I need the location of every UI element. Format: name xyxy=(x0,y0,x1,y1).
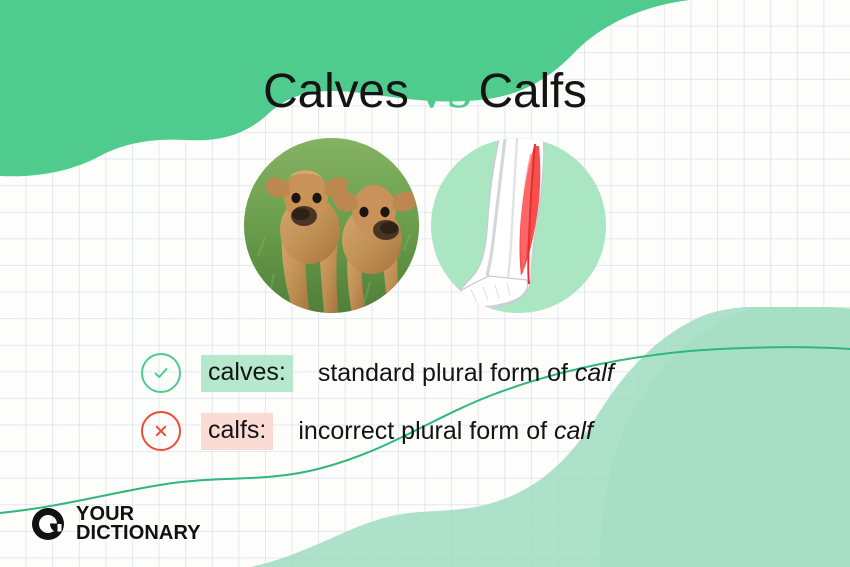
term-calves: calves: xyxy=(201,355,293,392)
infographic-canvas: CalvesVSCalfs xyxy=(0,0,850,567)
page-title: CalvesVSCalfs xyxy=(0,68,850,116)
definition-list: calves: standard plural form of calf cal… xyxy=(0,344,850,460)
title-separator-vs: VS xyxy=(409,68,479,117)
title-right-word: Calfs xyxy=(479,65,587,118)
definition-calves: standard plural form of calf xyxy=(318,359,614,388)
check-circle-icon xyxy=(141,353,181,393)
logo-wordmark: YOUR DICTIONARY xyxy=(76,505,201,544)
calf-muscle-illustration xyxy=(431,138,606,313)
calves-photo-art xyxy=(244,138,419,313)
definition-calfs: incorrect plural form of calf xyxy=(298,417,593,446)
calves-photo xyxy=(244,138,419,313)
definition-row-correct: calves: standard plural form of calf xyxy=(0,344,850,402)
x-glyph xyxy=(151,421,171,441)
yourdictionary-q-logo-icon xyxy=(30,506,66,542)
image-row xyxy=(0,138,850,313)
definition-row-incorrect: calfs: incorrect plural form of calf xyxy=(0,402,850,460)
yourdictionary-logo[interactable]: YOUR DICTIONARY xyxy=(30,505,201,544)
definition-calfs-text: incorrect plural form of xyxy=(298,417,554,445)
definition-calfs-italic: calf xyxy=(554,417,593,445)
calf-muscle-art xyxy=(431,138,606,313)
check-glyph xyxy=(151,363,171,383)
definition-calves-text: standard plural form of xyxy=(318,359,575,387)
logo-line-2: DICTIONARY xyxy=(76,524,201,544)
term-calfs: calfs: xyxy=(201,413,273,450)
title-left-word: Calves xyxy=(263,65,409,118)
x-circle-icon xyxy=(141,411,181,451)
definition-calves-italic: calf xyxy=(575,359,614,387)
